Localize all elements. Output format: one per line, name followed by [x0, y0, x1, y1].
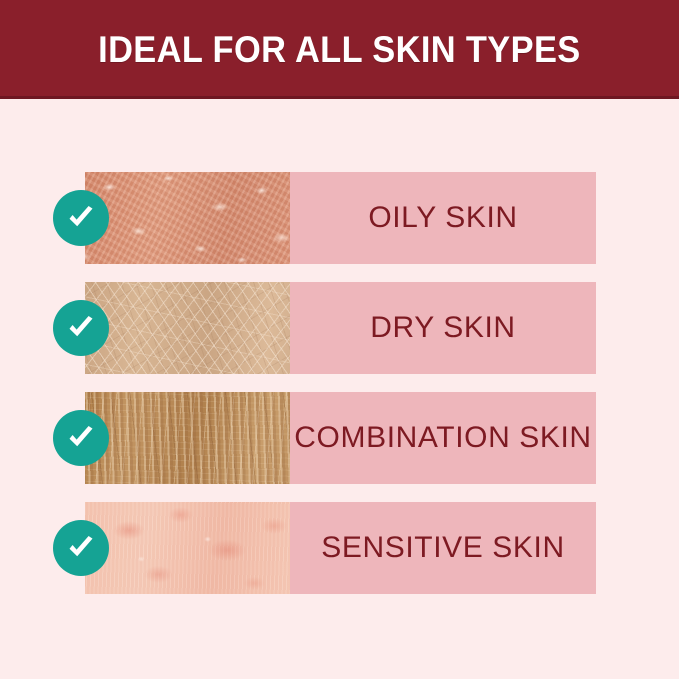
sensitive-skin-texture-image: [85, 502, 290, 594]
oily-skin-texture-image: [85, 172, 290, 264]
combination-skin-texture-image: [85, 392, 290, 484]
skin-type-label: COMBINATION SKIN: [294, 423, 591, 453]
skin-type-label: OILY SKIN: [368, 203, 517, 233]
skin-type-label: SENSITIVE SKIN: [321, 533, 564, 563]
skin-types-infographic: IDEAL FOR ALL SKIN TYPES OILY SKIN DRY S…: [0, 0, 679, 679]
oily-skin-texture: [85, 172, 290, 264]
combination-skin-texture: [85, 392, 290, 484]
dry-skin-texture: [85, 282, 290, 374]
sensitive-skin-texture: [85, 502, 290, 594]
skin-type-row: DRY SKIN: [85, 282, 596, 374]
check-circle-icon: [53, 190, 109, 246]
check-circle-icon: [53, 410, 109, 466]
skin-type-row: SENSITIVE SKIN: [85, 502, 596, 594]
check-circle-icon: [53, 520, 109, 576]
dry-skin-texture-image: [85, 282, 290, 374]
page-title: IDEAL FOR ALL SKIN TYPES: [98, 31, 580, 68]
skin-type-label-panel: OILY SKIN: [290, 172, 596, 264]
check-circle-icon: [53, 300, 109, 356]
skin-type-label-panel: DRY SKIN: [290, 282, 596, 374]
header-banner: IDEAL FOR ALL SKIN TYPES: [0, 0, 679, 99]
skin-type-label: DRY SKIN: [370, 313, 515, 343]
skin-type-row: OILY SKIN: [85, 172, 596, 264]
skin-type-label-panel: COMBINATION SKIN: [290, 392, 596, 484]
skin-type-label-panel: SENSITIVE SKIN: [290, 502, 596, 594]
skin-type-row: COMBINATION SKIN: [85, 392, 596, 484]
